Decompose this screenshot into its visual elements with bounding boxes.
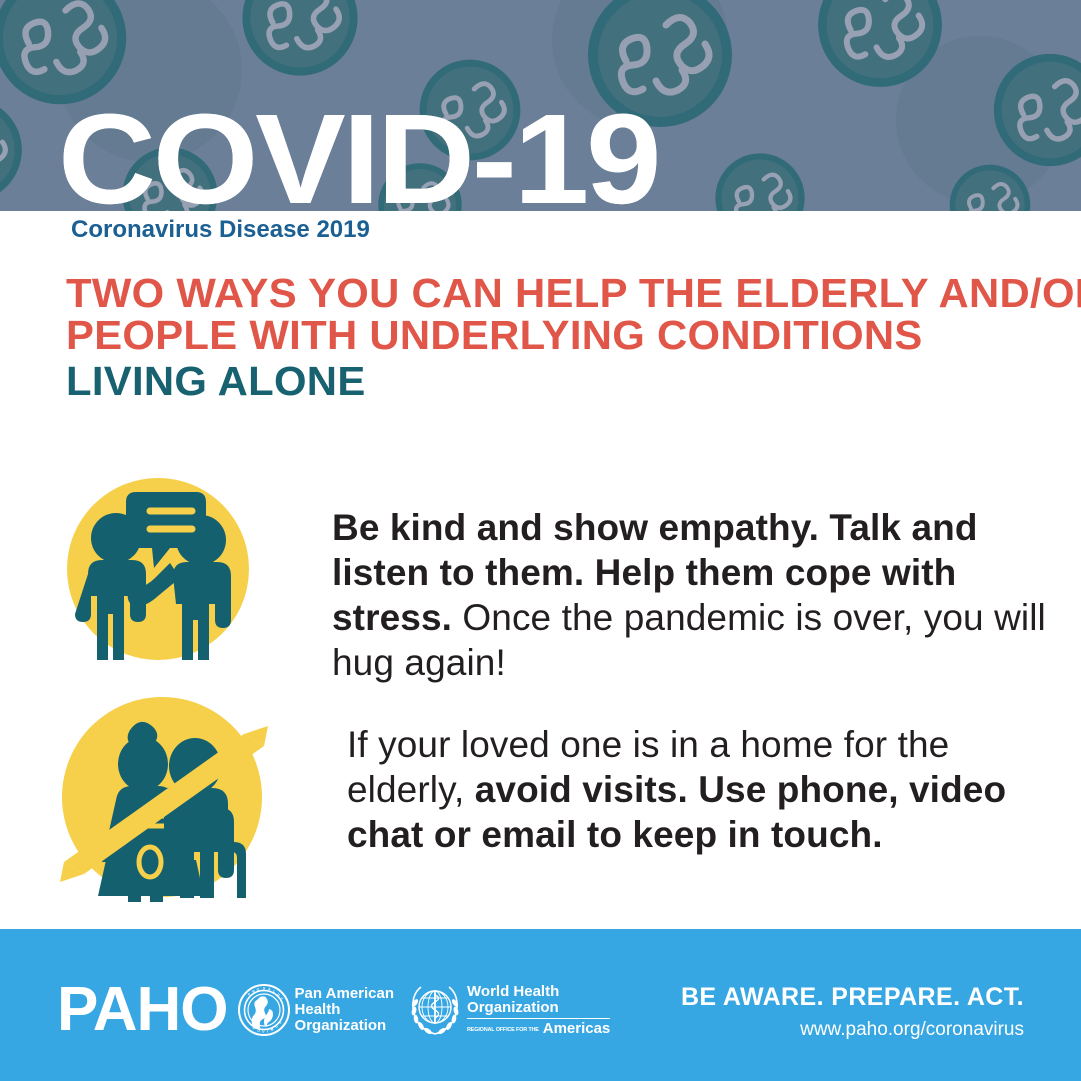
advice-text-2: If your loved one is in a home for the e… xyxy=(347,722,1068,857)
who-regional-office-label: REGIONAL OFFICE FOR THE xyxy=(467,1026,539,1034)
paho-logo-lockup: PAHO P R O xyxy=(57,979,610,1041)
paho-seal-block: P R O S A L U T N O V I M U S xyxy=(238,984,395,1036)
svg-text:U: U xyxy=(274,1024,279,1029)
paho-org-line-1: Pan American xyxy=(295,986,395,1002)
covid19-infographic-poster: COVID-19 Coronavirus Disease 2019 TWO WA… xyxy=(0,0,1081,1081)
paho-org-line-3: Organization xyxy=(295,1018,395,1034)
paho-org-line-2: Health xyxy=(295,1002,395,1018)
headline-line-3: LIVING ALONE xyxy=(66,360,1035,402)
advice-item-2: If your loved one is in a home for the e… xyxy=(58,692,1068,907)
svg-text:L: L xyxy=(272,989,275,993)
svg-text:A: A xyxy=(267,987,271,991)
paho-organization-name: Pan American Health Organization xyxy=(295,986,395,1034)
who-divider xyxy=(467,1018,610,1019)
two-people-talking-icon xyxy=(58,478,258,665)
header-band: COVID-19 xyxy=(0,0,1081,211)
footer-bar: PAHO P R O xyxy=(0,929,1081,1081)
advice-item-1: Be kind and show empathy. Talk and liste… xyxy=(58,478,1068,685)
headline-block: TWO WAYS YOU CAN HELP THE ELDERLY AND/OR… xyxy=(66,272,1016,402)
who-logo-block: World Health Organization REGIONAL OFFIC… xyxy=(408,983,610,1037)
svg-text:M: M xyxy=(270,1027,274,1032)
svg-text:I: I xyxy=(266,1029,267,1033)
no-visits-elderly-icon xyxy=(58,692,273,907)
footer-slogan: BE AWARE. PREPARE. ACT. xyxy=(681,983,1024,1012)
paho-wordmark: PAHO xyxy=(57,979,228,1041)
footer-tagline-block: BE AWARE. PREPARE. ACT. www.paho.org/cor… xyxy=(681,983,1024,1041)
page-subtitle: Coronavirus Disease 2019 xyxy=(71,216,370,244)
advice-text-1: Be kind and show empathy. Talk and liste… xyxy=(332,505,1068,685)
footer-url[interactable]: www.paho.org/coronavirus xyxy=(681,1019,1024,1041)
who-regional-row: REGIONAL OFFICE FOR THE Americas xyxy=(467,1021,610,1036)
page-title: COVID-19 xyxy=(58,96,658,211)
svg-text:O: O xyxy=(256,1028,260,1033)
paho-globe-seal-icon: P R O S A L U T N O V I M U S xyxy=(238,984,290,1036)
who-line-1: World Health xyxy=(467,984,610,1000)
who-organization-name: World Health Organization REGIONAL OFFIC… xyxy=(467,984,610,1036)
headline-line-1: TWO WAYS YOU CAN HELP THE ELDERLY AND/OR xyxy=(66,272,1035,314)
who-line-2: Organization xyxy=(467,1000,610,1016)
who-americas-label: Americas xyxy=(543,1021,611,1036)
headline-line-2: PEOPLE WITH UNDERLYING CONDITIONS xyxy=(66,314,1035,356)
who-emblem-icon xyxy=(408,983,462,1037)
